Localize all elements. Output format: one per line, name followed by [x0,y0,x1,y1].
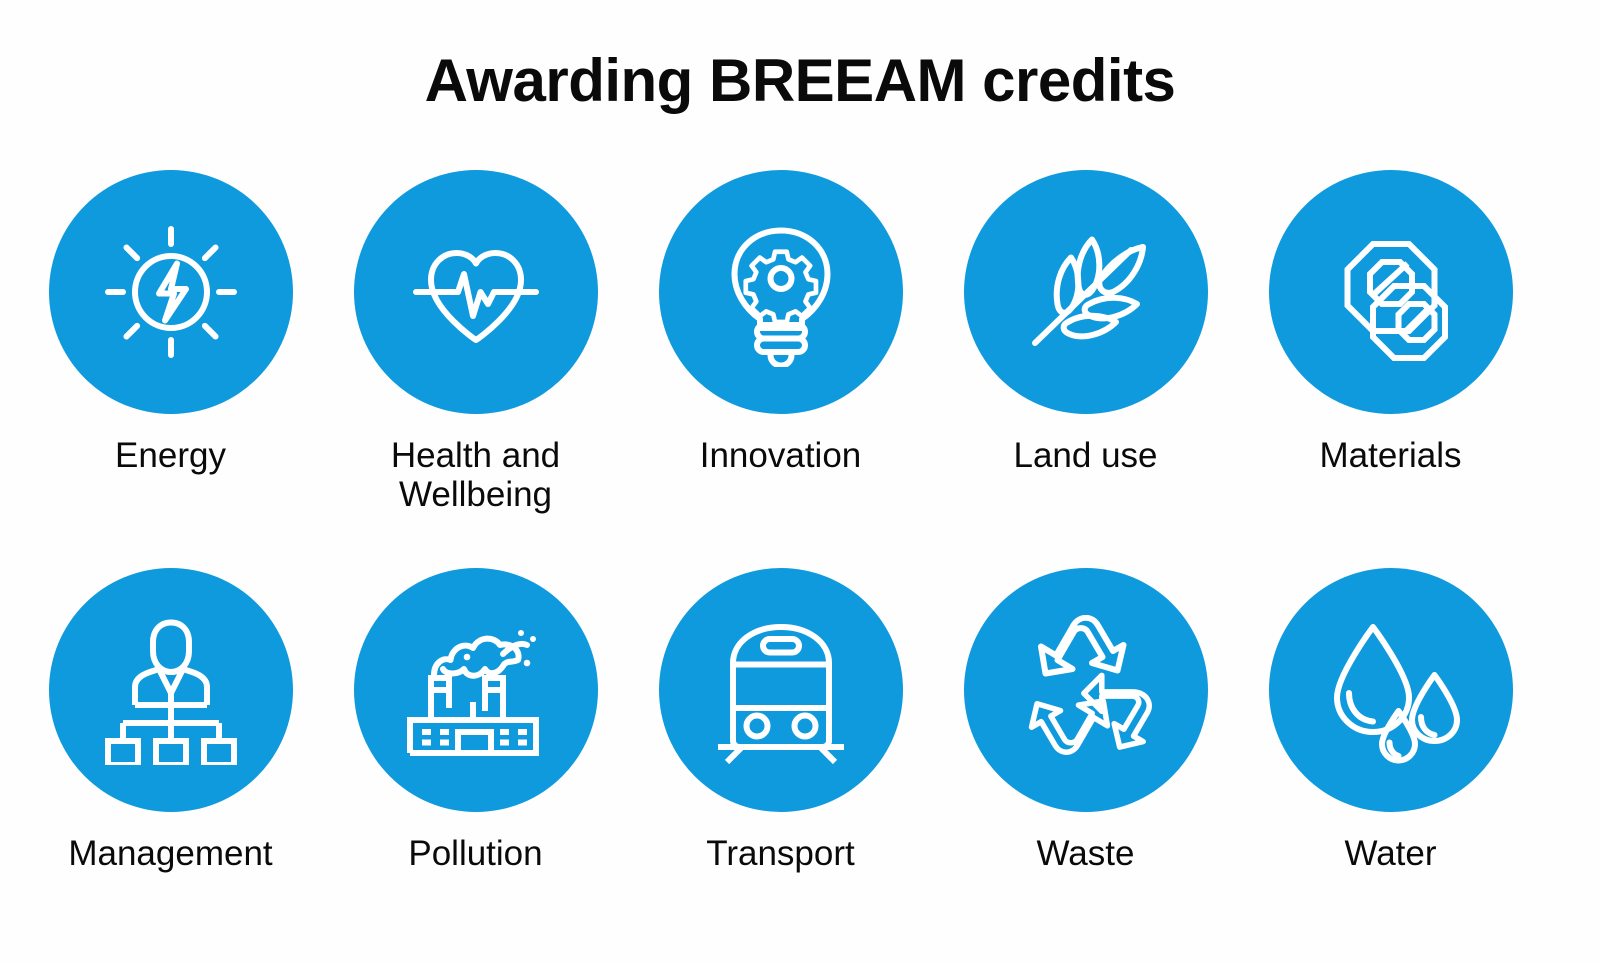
icon-circle-pollution[interactable] [354,568,598,812]
category-row-top: Energy Health and Wellbeing [0,170,1600,568]
category-item-materials[interactable]: Materials [1238,170,1543,475]
icon-circle-health-and-wellbeing[interactable] [354,170,598,414]
category-label: Transport [706,834,854,873]
breeam-credits-infographic: Awarding BREEAM credits [0,0,1600,962]
category-item-management[interactable]: Management [18,568,323,873]
icon-circle-energy[interactable] [49,170,293,414]
icon-circle-water[interactable] [1269,568,1513,812]
heart-pulse-icon [401,217,551,367]
category-label: Health and Wellbeing [376,436,576,514]
category-item-land-use[interactable]: Land use [933,170,1238,475]
category-label: Management [68,834,272,873]
category-row-bottom: Management [0,568,1600,873]
water-drops-icon [1316,615,1466,765]
icon-circle-management[interactable] [49,568,293,812]
icon-circle-waste[interactable] [964,568,1208,812]
category-label: Waste [1037,834,1135,873]
category-item-innovation[interactable]: Innovation [628,170,933,475]
category-label: Innovation [700,436,862,475]
icon-circle-innovation[interactable] [659,170,903,414]
category-item-pollution[interactable]: Pollution [323,568,628,873]
leaf-branch-icon [1011,217,1161,367]
page-title: Awarding BREEAM credits [0,48,1600,114]
category-item-health-and-wellbeing[interactable]: Health and Wellbeing [323,170,628,514]
octagon-blocks-icon [1316,217,1466,367]
category-item-energy[interactable]: Energy [18,170,323,475]
category-item-transport[interactable]: Transport [628,568,933,873]
lightbulb-gear-icon [706,217,856,367]
category-label: Materials [1320,436,1462,475]
category-label: Water [1344,834,1436,873]
category-label: Energy [115,436,226,475]
train-icon [706,615,856,765]
icon-circle-transport[interactable] [659,568,903,812]
category-item-waste[interactable]: Waste [933,568,1238,873]
category-grid: Energy Health and Wellbeing [0,170,1600,873]
icon-circle-land-use[interactable] [964,170,1208,414]
org-chart-person-icon [96,615,246,765]
category-label: Pollution [408,834,542,873]
category-label: Land use [1013,436,1157,475]
factory-smoke-icon [401,615,551,765]
category-item-water[interactable]: Water [1238,568,1543,873]
icon-circle-materials[interactable] [1269,170,1513,414]
sun-lightning-icon [96,217,246,367]
recycle-icon [1011,615,1161,765]
